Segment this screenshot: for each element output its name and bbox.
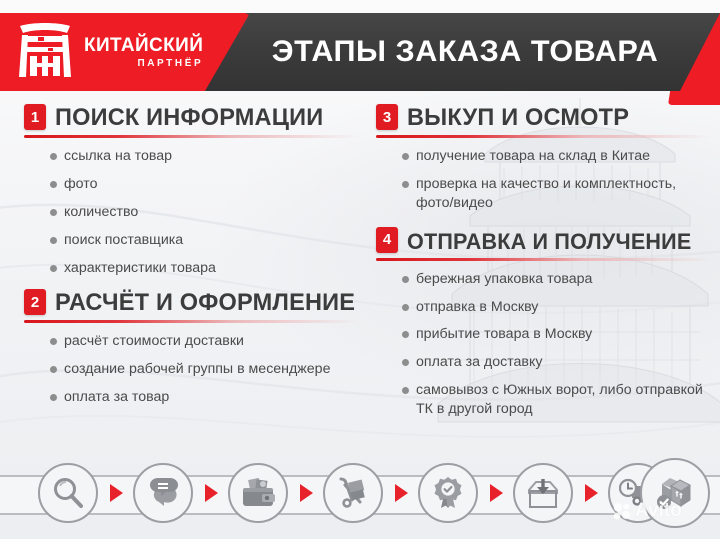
process-step-4[interactable] [323,463,383,523]
chinese-gate-icon [14,19,76,81]
hand-truck-icon [336,476,370,510]
list-item: поиск поставщика [50,231,360,250]
avito-logo-icon [612,501,632,521]
quality-rosette-icon [432,476,464,510]
section-2-number-badge: 2 [24,289,46,315]
section-3-number-badge: 3 [376,104,398,130]
section-2: 2 РАСЧЁТ И ОФОРМЛЕНИЕ расчёт стоимости д… [24,289,360,407]
list-item: характеристики товара [50,259,360,278]
process-step-5[interactable] [418,463,478,523]
process-strip [0,455,720,539]
list-item: получение товара на склад в Китае [402,147,712,166]
section-2-title: РАСЧЁТ И ОФОРМЛЕНИЕ [55,291,355,315]
section-1-number-badge: 1 [24,104,46,130]
list-item: количество [50,203,360,222]
section-1-header: 1 ПОИСК ИНФОРМАЦИИ [24,104,360,133]
infographic-page: ЭТАПЫ ЗАКАЗА ТОВАРА [0,0,720,539]
box-download-icon [526,476,560,510]
red-triangle-arrow-icon [110,484,123,502]
section-4-number-badge: 4 [376,227,398,253]
section-4: 4 ОТПРАВКА И ПОЛУЧЕНИЕ бережная упаковка… [376,227,712,419]
section-3-header: 3 ВЫКУП И ОСМОТР [376,104,712,133]
section-4-underline [376,258,712,261]
section-4-list: бережная упаковка товара отправка в Моск… [376,270,712,419]
section-1-underline [24,135,360,138]
process-step-1[interactable] [38,463,98,523]
wallet-money-icon [240,477,276,509]
section-3-underline [376,135,712,138]
list-item: самовывоз с Южных ворот, либо отправкой … [402,381,712,419]
section-3: 3 ВЫКУП И ОСМОТР получение товара на скл… [376,104,712,213]
section-3-title: ВЫКУП И ОСМОТР [407,106,629,130]
section-3-list: получение товара на склад в Китае провер… [376,147,712,213]
section-2-header: 2 РАСЧЁТ И ОФОРМЛЕНИЕ [24,289,360,318]
page-title: ЭТАПЫ ЗАКАЗА ТОВАРА [246,13,685,91]
red-triangle-arrow-icon [395,484,408,502]
header-banner: ЭТАПЫ ЗАКАЗА ТОВАРА [0,13,720,91]
red-triangle-arrow-icon [585,484,598,502]
brand-logo[interactable]: КИТАЙСКИЙ ПАРТНЁР [14,19,203,81]
list-item: создание рабочей группы в месенджере [50,360,360,379]
list-item: ссылка на товар [50,147,360,166]
section-1: 1 ПОИСК ИНФОРМАЦИИ ссылка на товар фото … [24,104,360,277]
magnifier-icon [51,476,85,510]
logo-brand-subtitle: ПАРТНЁР [84,59,203,69]
list-item: оплата за товар [50,388,360,407]
red-triangle-arrow-icon [300,484,313,502]
list-item: прибытие товара в Москву [402,325,712,344]
avito-watermark-text: Avito [635,500,682,522]
section-2-underline [24,320,360,323]
left-column: 1 ПОИСК ИНФОРМАЦИИ ссылка на товар фото … [24,104,360,416]
list-item: фото [50,175,360,194]
logo-brand-name: КИТАЙСКИЙ [84,36,203,55]
section-1-title: ПОИСК ИНФОРМАЦИИ [55,106,323,130]
process-step-6[interactable] [513,463,573,523]
process-step-2[interactable] [133,463,193,523]
list-item: расчёт стоимости доставки [50,332,360,351]
list-item: оплата за доставку [402,353,712,372]
right-column: 3 ВЫКУП И ОСМОТР получение товара на скл… [376,104,712,428]
avito-watermark: Avito [612,500,682,522]
list-item: отправка в Москву [402,298,712,317]
chat-bubbles-icon [145,477,181,509]
list-item: бережная упаковка товара [402,270,712,289]
red-triangle-arrow-icon [490,484,503,502]
red-triangle-arrow-icon [205,484,218,502]
list-item: проверка на качество и комплектность, фо… [402,175,712,213]
section-1-list: ссылка на товар фото количество поиск по… [24,147,360,277]
section-4-title: ОТПРАВКА И ПОЛУЧЕНИЕ [407,231,691,253]
process-step-3[interactable] [228,463,288,523]
section-4-header: 4 ОТПРАВКА И ПОЛУЧЕНИЕ [376,227,712,256]
section-2-list: расчёт стоимости доставки создание рабоч… [24,332,360,407]
